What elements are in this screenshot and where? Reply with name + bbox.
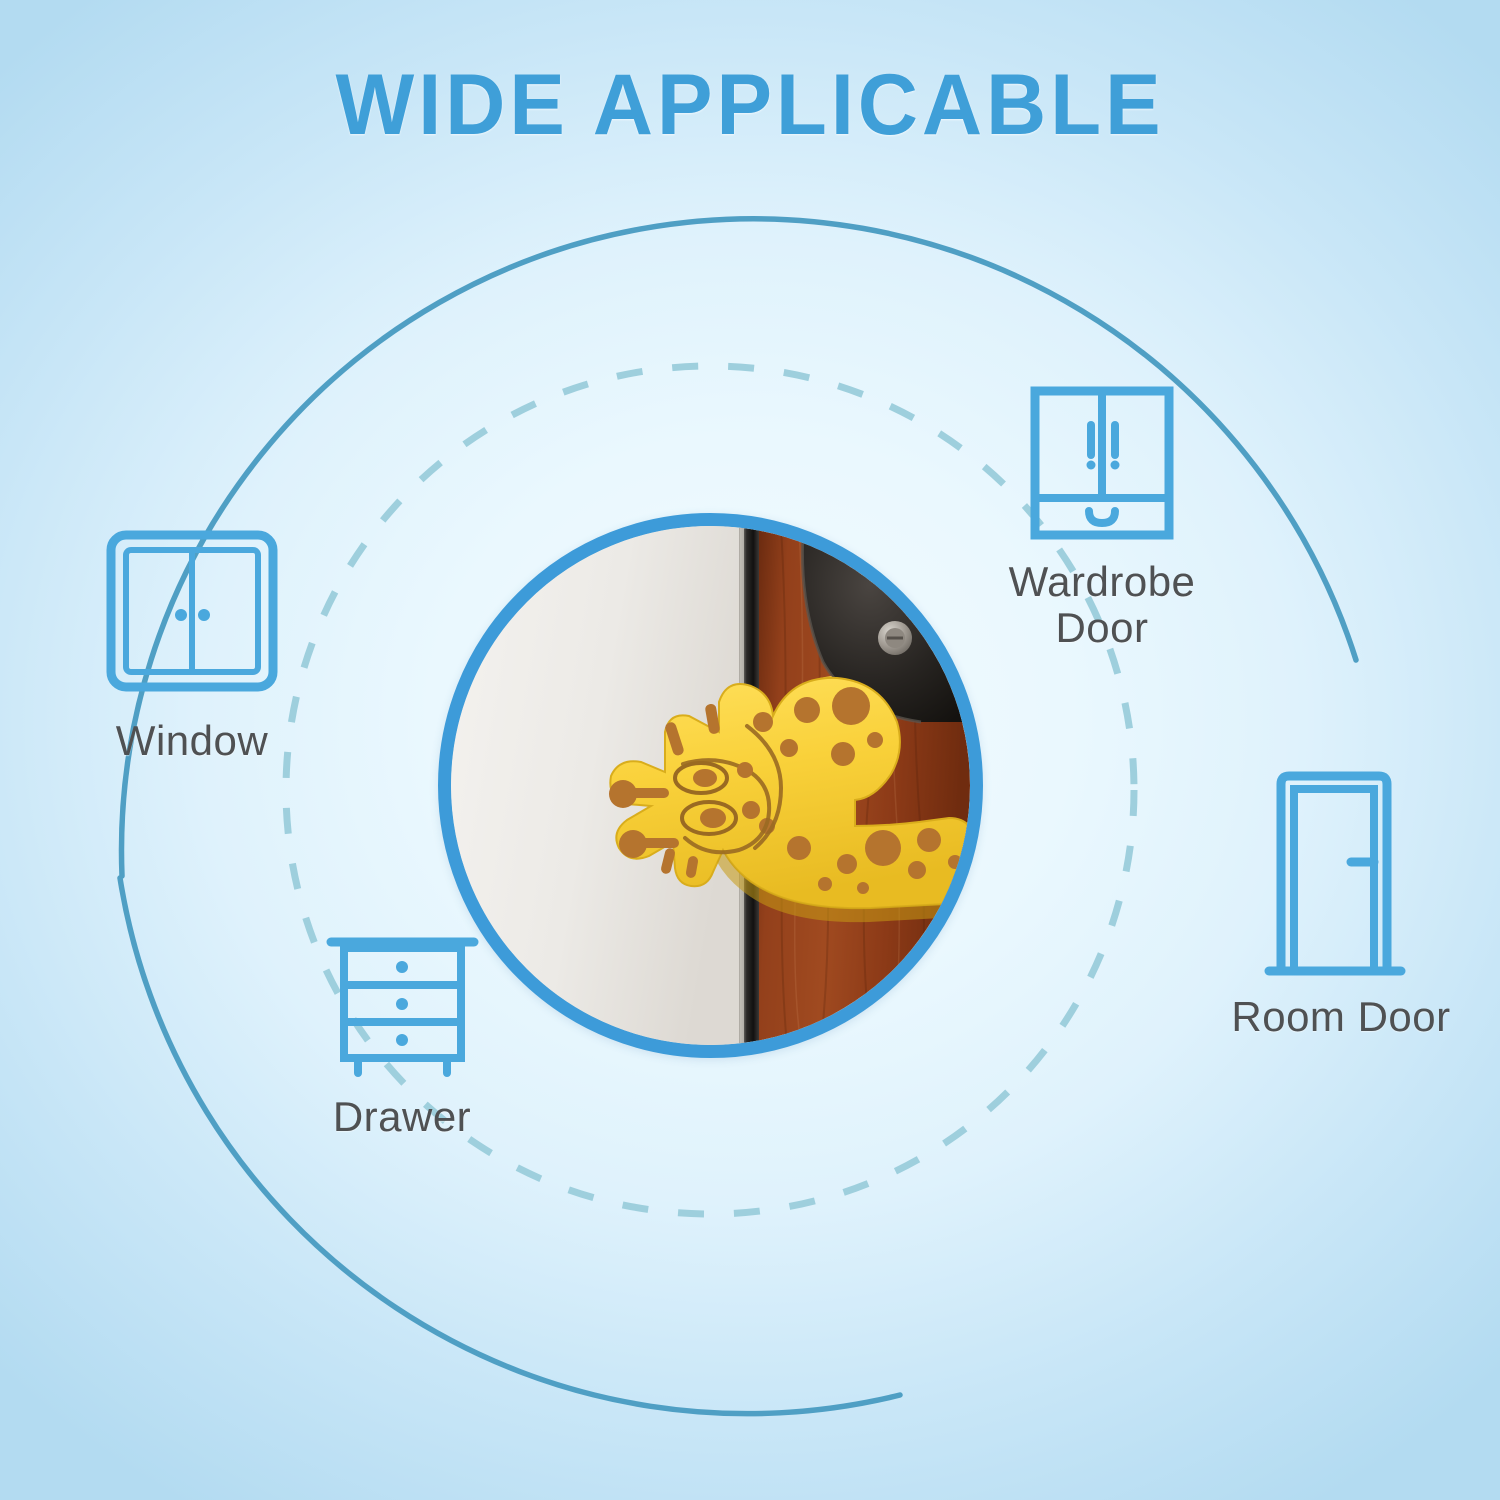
sidebar-item-label-wardrobe-door: Wardrobe Door bbox=[1009, 559, 1196, 651]
sidebar-item-drawer[interactable]: Drawer bbox=[272, 928, 532, 1140]
wardrobe-icon bbox=[1027, 383, 1177, 543]
drawer-icon bbox=[325, 928, 480, 1078]
window-icon bbox=[102, 527, 282, 702]
sidebar-item-label-drawer: Drawer bbox=[333, 1094, 471, 1140]
sidebar-item-label-window: Window bbox=[116, 718, 268, 764]
sidebar-item-label-room-door: Room Door bbox=[1231, 994, 1450, 1040]
page-title: WIDE APPLICABLE bbox=[23, 56, 1478, 155]
sidebar-item-window[interactable]: Window bbox=[62, 527, 322, 764]
sidebar-item-wardrobe-door[interactable]: Wardrobe Door bbox=[962, 383, 1242, 651]
sidebar-item-room-door[interactable]: Room Door bbox=[1196, 766, 1486, 1040]
door-icon bbox=[1261, 766, 1421, 978]
